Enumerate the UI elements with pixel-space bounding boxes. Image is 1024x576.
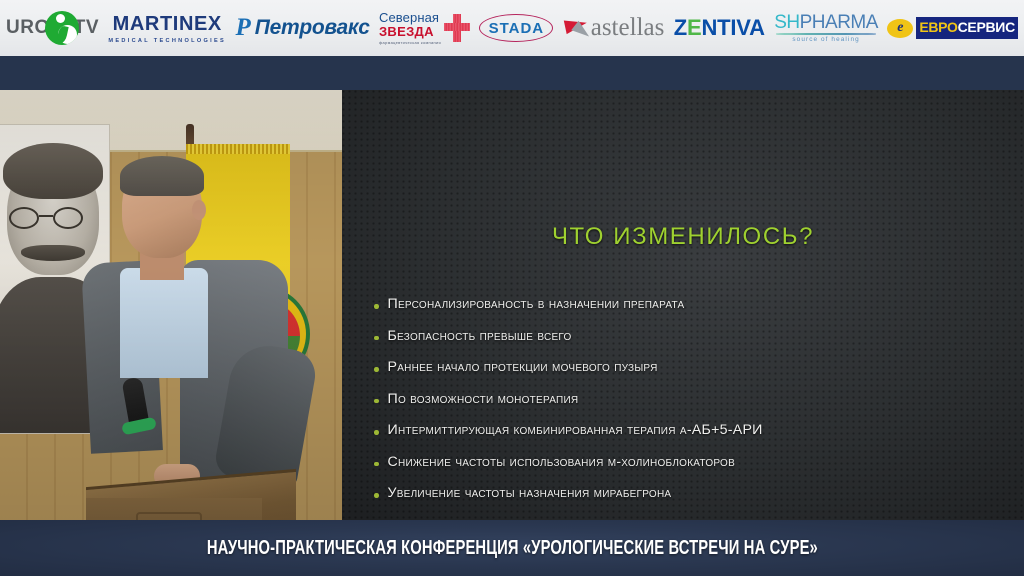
bullet-text: Интермиттирующая комбинированная терапия… <box>388 422 763 438</box>
logo-zvezda-tagline: фармацевтическая компания <box>379 40 441 45</box>
bullet-dot-icon <box>374 399 379 404</box>
astellas-star-icon <box>563 13 597 43</box>
urotv-leaf-icon <box>45 11 79 45</box>
logo-martinex[interactable]: MARTINEX MEDICAL TECHNOLOGIES <box>108 13 226 44</box>
logo-zentiva-e: E <box>687 15 701 40</box>
shpharma-swoosh-icon <box>776 33 876 34</box>
logo-zentiva[interactable]: ZENTIVA <box>674 15 765 41</box>
logo-severnaya-zvezda[interactable]: Северная ЗВЕЗДА фармацевтическая компани… <box>379 11 470 45</box>
logo-evroservis[interactable]: e ЕВРОСЕРВИС <box>887 17 1018 39</box>
logo-stada[interactable]: STADA <box>479 11 553 45</box>
presentation-slide[interactable]: ЧТО ИЗМЕНИЛОСЬ? Персонализированость в н… <box>342 90 1024 520</box>
logo-shpharma-sh: SH <box>774 12 799 33</box>
logo-zvezda-line1: Северная <box>379 11 441 25</box>
evroservis-e-icon: e <box>887 19 913 38</box>
broadcast-stage: ЧТО ИЗМЕНИЛОСЬ? Персонализированость в н… <box>0 90 1024 520</box>
list-item: Интермиттирующая комбинированная терапия… <box>374 422 1004 438</box>
logo-astellas[interactable]: astellas <box>563 13 665 43</box>
bullet-text: По возможности монотерапия <box>388 391 579 407</box>
logo-petrovax[interactable]: P Петровакс <box>235 14 369 42</box>
logo-evroservis-servis: СЕРВИС <box>958 19 1015 35</box>
conference-title: НАУЧНО-ПРАКТИЧЕСКАЯ КОНФЕРЕНЦИЯ «УРОЛОГИ… <box>206 536 817 560</box>
logo-zentiva-rest: NTIVA <box>701 15 764 40</box>
bullet-dot-icon <box>374 493 379 498</box>
logo-zvezda-line2: ЗВЕЗДА <box>379 25 441 39</box>
bullet-dot-icon <box>374 462 379 467</box>
list-item: Раннее начало протекции мочевого пузыря <box>374 359 1004 375</box>
slide-bullet-list: Персонализированость в назначении препар… <box>374 296 1004 517</box>
conference-banner: НАУЧНО-ПРАКТИЧЕСКАЯ КОНФЕРЕНЦИЯ «УРОЛОГИ… <box>0 520 1024 576</box>
slide-title: ЧТО ИЗМЕНИЛОСЬ? <box>342 223 1024 251</box>
bullet-text: Раннее начало протекции мочевого пузыря <box>388 359 658 375</box>
logo-shpharma-pharma: PHARMA <box>800 12 878 33</box>
petrovax-monogram-icon: P <box>235 14 250 42</box>
logo-martinex-tagline: MEDICAL TECHNOLOGIES <box>108 38 226 44</box>
list-item: Снижение частоты использования м-холиноб… <box>374 454 1004 470</box>
logo-evroservis-evro: ЕВРО <box>919 19 957 35</box>
bullet-text: Снижение частоты использования м-холиноб… <box>388 454 736 470</box>
logo-zentiva-z: Z <box>674 15 687 40</box>
bullet-dot-icon <box>374 336 379 341</box>
bullet-text: Персонализированость в назначении препар… <box>388 296 685 312</box>
bullet-dot-icon <box>374 367 379 372</box>
bullet-dot-icon <box>374 430 379 435</box>
list-item: По возможности монотерапия <box>374 391 1004 407</box>
logo-shpharma-tagline: source of healing <box>792 36 859 43</box>
list-item: Безопасность превыше всего <box>374 328 1004 344</box>
sponsor-logo-bar: URO TV MARTINEX MEDICAL TECHNOLOGIES P П… <box>0 0 1024 56</box>
list-item: Увеличение частоты назначения мирабегрон… <box>374 485 1004 501</box>
navy-separator-band <box>0 56 1024 90</box>
bullet-dot-icon <box>374 304 379 309</box>
logo-martinex-name: MARTINEX <box>113 13 222 36</box>
video-vignette <box>0 90 342 520</box>
logo-urotv-text-uro: URO <box>6 17 50 39</box>
logo-urotv[interactable]: URO TV <box>6 11 99 45</box>
list-item: Персонализированость в назначении препар… <box>374 296 1004 312</box>
bullet-text: Безопасность превыше всего <box>388 328 572 344</box>
speaker-video-panel[interactable] <box>0 90 342 520</box>
bullet-text: Увеличение частоты назначения мирабегрон… <box>388 485 672 501</box>
logo-astellas-name: astellas <box>591 14 665 42</box>
logo-stada-name: STADA <box>489 20 545 37</box>
logo-shpharma[interactable]: SHPHARMA source of healing <box>774 13 878 42</box>
logo-petrovax-name: Петровакс <box>255 16 370 40</box>
red-cross-icon <box>444 14 470 42</box>
